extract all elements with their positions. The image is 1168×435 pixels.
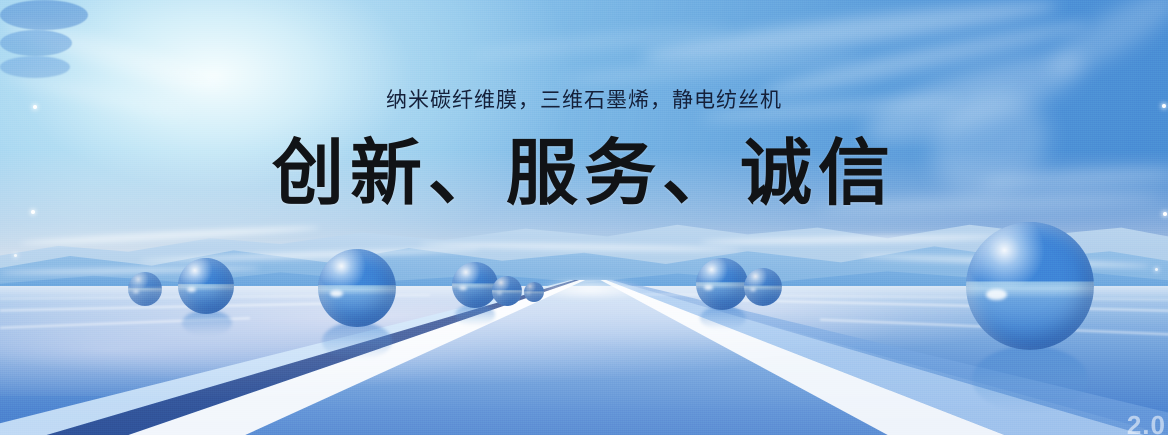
glass-sphere-small xyxy=(492,276,522,306)
glass-sphere-mid xyxy=(128,272,162,306)
glass-sphere-small xyxy=(524,282,544,302)
hero-banner: 纳米碳纤维膜，三维石墨烯，静电纺丝机 创新、服务、诚信 2.0 xyxy=(0,0,1168,435)
glass-sphere-mid xyxy=(452,262,498,308)
foreground-sphere-reflection xyxy=(0,30,72,56)
sparkle-dot-icon xyxy=(1155,268,1158,271)
glass-sphere-left xyxy=(318,249,396,327)
foreground-sphere-reflection xyxy=(0,56,70,78)
glass-sphere-small xyxy=(744,268,782,306)
glass-sphere-mid xyxy=(696,258,748,310)
banner-subtitle: 纳米碳纤维膜，三维石墨烯，静电纺丝机 xyxy=(0,86,1168,114)
sparkle-dot-icon xyxy=(14,254,17,257)
watermark-label: 2.0 xyxy=(1127,410,1166,435)
glass-sphere-mid xyxy=(178,258,234,314)
sparkle-dot-icon xyxy=(1163,212,1167,216)
banner-headline: 创新、服务、诚信 xyxy=(0,134,1168,212)
glass-sphere-large xyxy=(966,222,1094,350)
foreground-sphere-reflection xyxy=(0,0,88,30)
